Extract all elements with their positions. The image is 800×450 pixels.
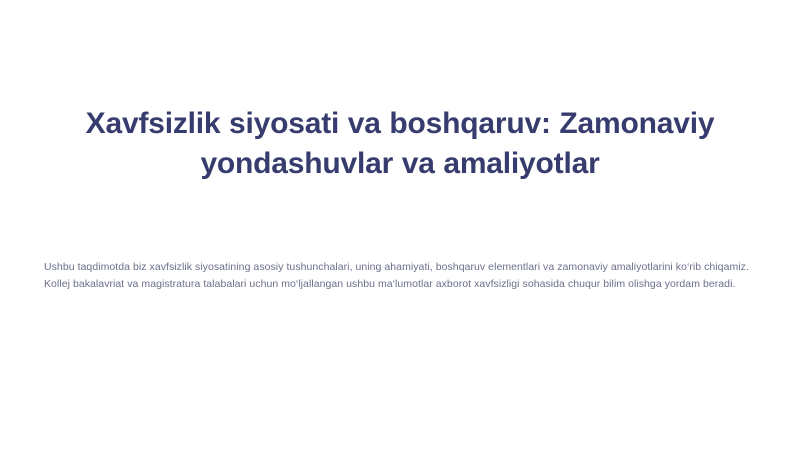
slide-title: Xavfsizlik siyosati va boshqaruv: Zamona… <box>60 104 740 184</box>
title-block: Xavfsizlik siyosati va boshqaruv: Zamona… <box>0 104 800 184</box>
slide-body-paragraph: Ushbu taqdimotda biz xavfsizlik siyosati… <box>44 259 754 293</box>
body-block: Ushbu taqdimotda biz xavfsizlik siyosati… <box>44 259 754 293</box>
presentation-slide: Xavfsizlik siyosati va boshqaruv: Zamona… <box>0 0 800 450</box>
